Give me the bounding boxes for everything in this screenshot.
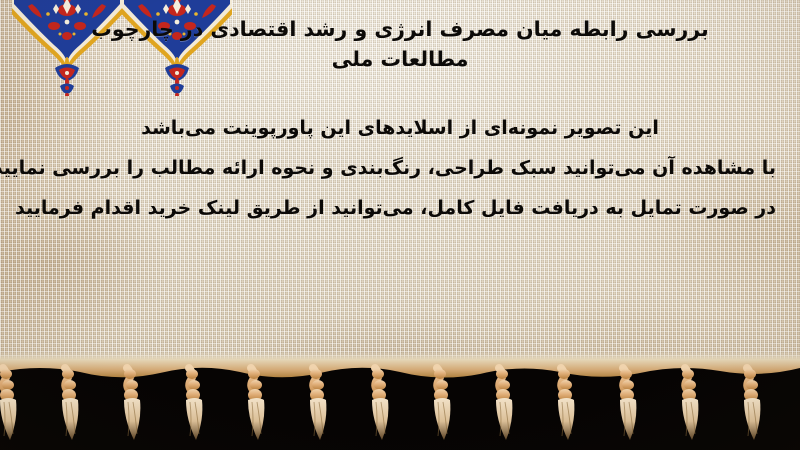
body-line-2: با مشاهده آن می‌توانید سبک طراحی، رنگ‌بن… [24, 148, 776, 188]
body-line-1: این تصویر نمونه‌ای از اسلایدهای این پاور… [24, 108, 776, 148]
slide-canvas: بررسی رابطه میان مصرف انرژی و رشد اقتصاد… [0, 0, 800, 450]
carpet-fringe [0, 352, 800, 450]
title-line-2: مطالعات ملی [0, 44, 800, 74]
title-line-1: بررسی رابطه میان مصرف انرژی و رشد اقتصاد… [0, 14, 800, 44]
body-line-3: در صورت تمایل به دریافت فایل کامل، می‌تو… [24, 188, 776, 228]
slide-title: بررسی رابطه میان مصرف انرژی و رشد اقتصاد… [0, 14, 800, 74]
slide-body: این تصویر نمونه‌ای از اسلایدهای این پاور… [24, 108, 776, 228]
